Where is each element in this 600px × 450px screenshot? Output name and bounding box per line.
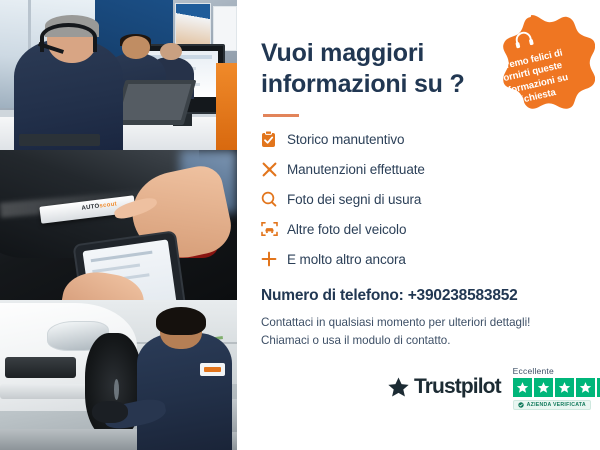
list-item[interactable]: E molto altro ancora [261,250,600,268]
trustpilot-star-icon [387,376,410,399]
strip-brand-label: AUTOscout [81,201,117,211]
list-item[interactable]: Foto dei segni di usura [261,190,600,208]
phone-line: Numero di telefono: +390238583852 [261,287,600,305]
mechanic-hair [156,307,205,335]
keyboard [19,134,100,146]
star-box [534,378,553,397]
uniform-logo [200,363,225,376]
phone-number[interactable]: +390238583852 [408,287,518,304]
promo-page: AUTOscout [0,0,600,450]
contact-description-line-2: Chiamaci o usa il modulo di contatto. [261,332,591,350]
callout-badge: Saremo felici di fornirti queste informa… [465,2,595,132]
star-box [555,378,574,397]
contact-description: Contattaci in qualsiasi momento per ulte… [261,314,591,350]
car-grille [5,357,76,378]
content-panel: Vuoi maggiori informazioni su ? Storico … [237,0,600,450]
agent-head [160,43,182,61]
trustpilot-rating[interactable]: Trustpilot Eccellente [387,366,600,410]
list-item-label: Altre foto del veicolo [287,222,406,237]
mechanic-glove [92,401,128,424]
clipboard-check-icon [261,130,287,148]
trustpilot-rating-label: Eccellente [513,366,600,376]
contact-description-line-1: Contattaci in qualsiasi momento per ulte… [261,314,591,332]
list-item-label: E molto altro ancora [287,252,406,267]
list-item-label: Storico manutentivo [287,132,404,147]
list-item[interactable]: Altre foto del veicolo [261,220,600,238]
list-item-label: Manutenzioni effettuate [287,162,425,177]
list-item[interactable]: Storico manutentivo [261,130,600,148]
verified-business-label: AZIENDA VERIFICATA [527,402,586,408]
star-box [576,378,595,397]
trustpilot-brand: Trustpilot [387,366,501,399]
call-center-agents-photo [0,0,237,150]
photo-column: AUTOscout [0,0,237,450]
mechanic-wheel-photo [0,300,237,450]
title-divider [263,114,299,117]
list-item-label: Foto dei segni di usura [287,192,421,207]
verified-business-badge: AZIENDA VERIFICATA [513,400,591,410]
phone-label: Numero di telefono: [261,287,404,304]
feature-list: Storico manutentivo Manutenzioni effettu… [261,130,600,268]
trustpilot-stars [513,378,600,397]
car-scan-icon [261,220,287,238]
mechanic-figure [137,333,232,450]
wrench-cross-icon [261,160,287,178]
trustpilot-brand-name: Trustpilot [414,375,501,399]
starburst-shape [465,2,595,132]
page-title: Vuoi maggiori informazioni su ? [261,38,476,99]
plus-icon [261,250,287,268]
orange-shelf [216,63,237,150]
list-item[interactable]: Manutenzioni effettuate [261,160,600,178]
verified-check-icon [518,402,524,408]
magnifier-icon [261,190,287,208]
trustpilot-score: Eccellente [513,366,600,410]
star-box [513,378,532,397]
agent-head [122,36,150,59]
wheel-hub [114,379,119,400]
laptop [112,80,196,125]
vehicle-inspection-photo: AUTOscout [0,150,237,300]
